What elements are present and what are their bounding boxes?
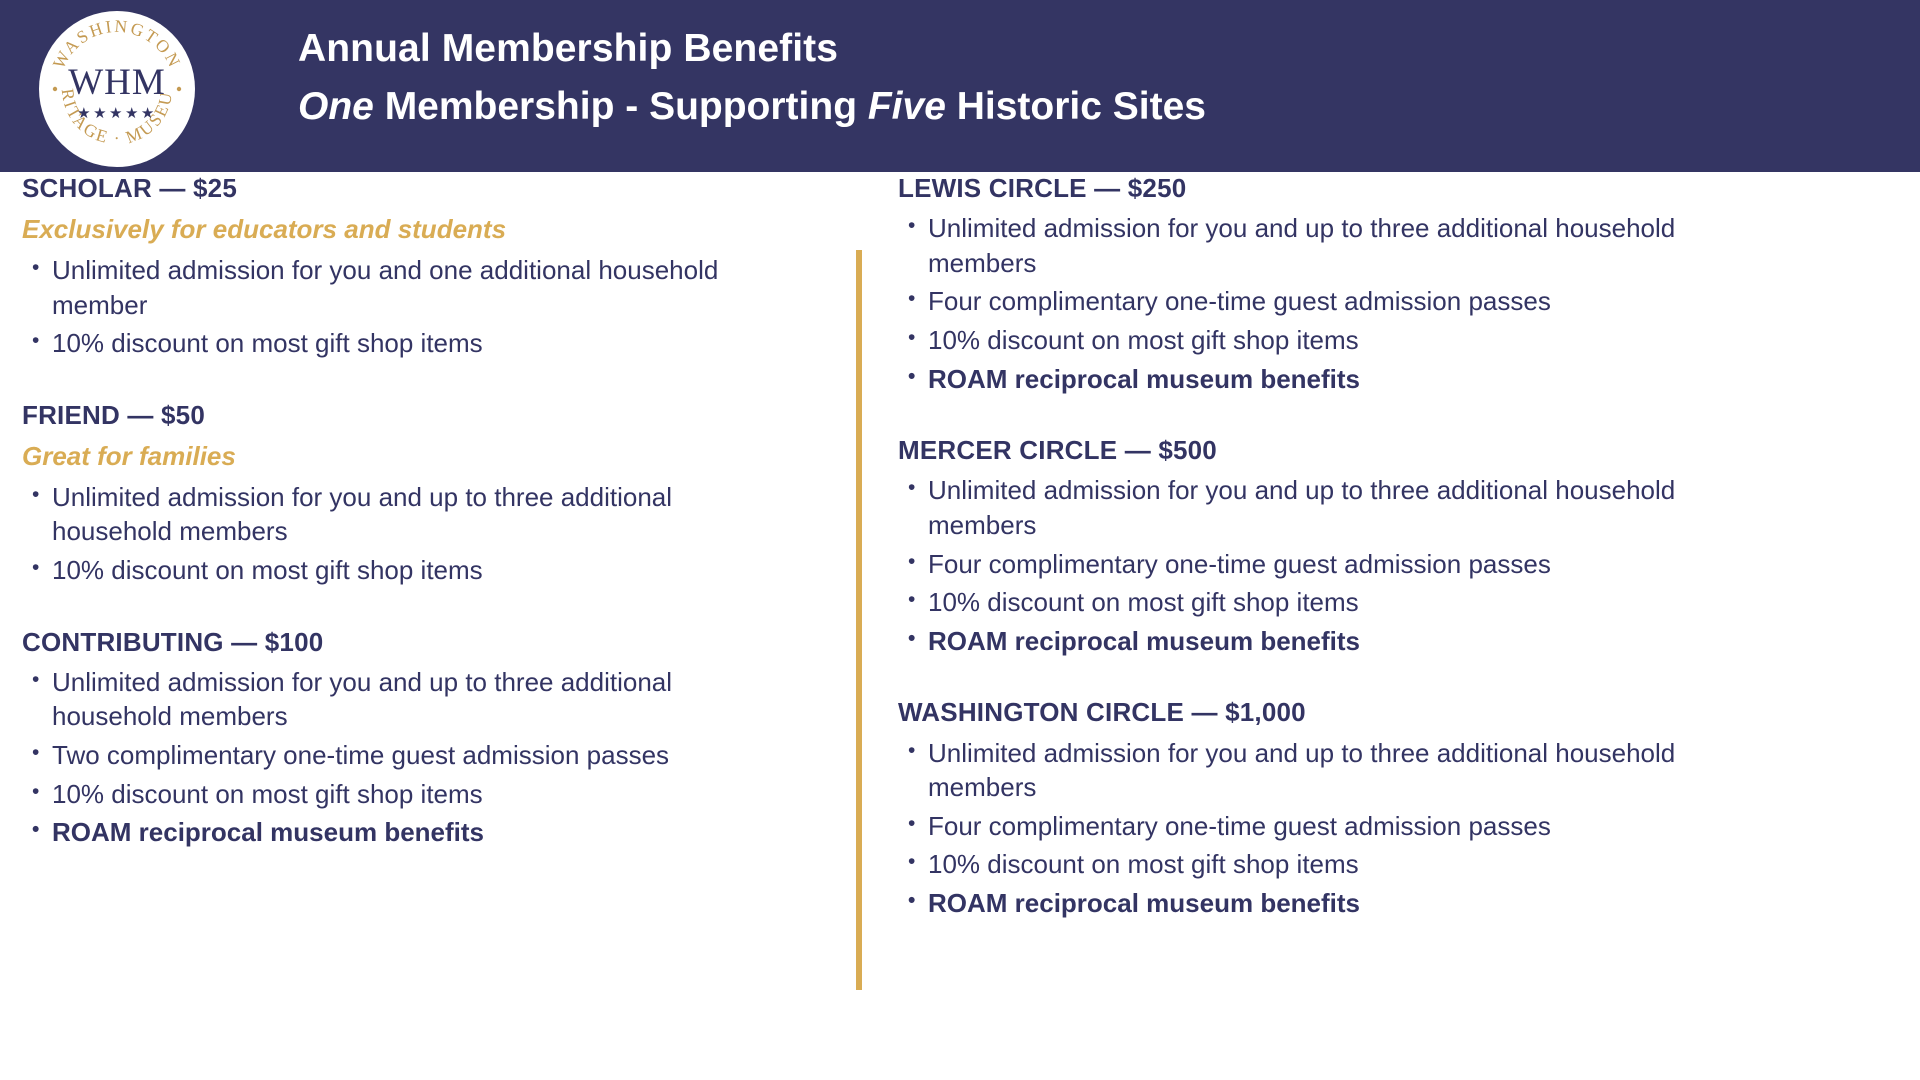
tier-lewis-circle: LEWIS CIRCLE — $250Unlimited admission f…	[898, 172, 1878, 396]
benefit-item: ROAM reciprocal museum benefits	[898, 624, 1743, 659]
tier-tagline-friend: Great for families	[22, 440, 832, 474]
tier-benefits-list-scholar: Unlimited admission for you and one addi…	[22, 253, 832, 361]
benefit-item: Four complimentary one-time guest admiss…	[898, 547, 1743, 582]
svg-text:WHM: WHM	[68, 62, 166, 103]
column-divider	[856, 250, 862, 990]
tier-spacer	[22, 588, 832, 626]
tier-washington-circle: WASHINGTON CIRCLE — $1,000Unlimited admi…	[898, 696, 1878, 920]
tier-title-mercer-circle: MERCER CIRCLE — $500	[898, 434, 1878, 467]
benefit-item: Unlimited admission for you and up to th…	[898, 736, 1743, 805]
subtitle-mid: Membership - Supporting	[374, 85, 868, 128]
tier-benefits-list-lewis-circle: Unlimited admission for you and up to th…	[898, 211, 1878, 396]
benefit-item: ROAM reciprocal museum benefits	[898, 362, 1743, 397]
tier-title-washington-circle: WASHINGTON CIRCLE — $1,000	[898, 696, 1878, 729]
tier-spacer	[898, 658, 1878, 696]
subtitle-word-five: Five	[868, 85, 946, 128]
benefit-item: Unlimited admission for you and up to th…	[22, 480, 722, 549]
benefits-body: SCHOLAR — $25Exclusively for educators a…	[0, 172, 1920, 1080]
benefit-item: Four complimentary one-time guest admiss…	[898, 809, 1743, 844]
benefit-item: Unlimited admission for you and one addi…	[22, 253, 722, 322]
benefit-item: Two complimentary one-time guest admissi…	[22, 738, 722, 773]
page-header: WASHINGTON HERITAGE · MUSEUMS WHM ★★★★★ …	[0, 0, 1920, 172]
benefit-item: 10% discount on most gift shop items	[22, 777, 722, 812]
benefit-item: 10% discount on most gift shop items	[898, 585, 1743, 620]
page-title: Annual Membership Benefits	[298, 22, 1858, 75]
tier-title-contributing: CONTRIBUTING — $100	[22, 626, 832, 659]
tier-mercer-circle: MERCER CIRCLE — $500Unlimited admission …	[898, 434, 1878, 658]
left-tier-column: SCHOLAR — $25Exclusively for educators a…	[22, 172, 832, 850]
benefit-item: Four complimentary one-time guest admiss…	[898, 284, 1743, 319]
benefit-item: 10% discount on most gift shop items	[22, 553, 722, 588]
tier-scholar: SCHOLAR — $25Exclusively for educators a…	[22, 172, 832, 361]
benefit-item: 10% discount on most gift shop items	[898, 847, 1743, 882]
tier-benefits-list-contributing: Unlimited admission for you and up to th…	[22, 665, 832, 850]
benefit-item: Unlimited admission for you and up to th…	[22, 665, 722, 734]
tier-contributing: CONTRIBUTING — $100Unlimited admission f…	[22, 626, 832, 850]
tier-title-friend: FRIEND — $50	[22, 399, 832, 432]
benefit-item: 10% discount on most gift shop items	[22, 326, 722, 361]
tier-tagline-scholar: Exclusively for educators and students	[22, 213, 832, 247]
benefit-item: ROAM reciprocal museum benefits	[22, 815, 722, 850]
benefit-item: ROAM reciprocal museum benefits	[898, 886, 1743, 921]
membership-benefits-page: WASHINGTON HERITAGE · MUSEUMS WHM ★★★★★ …	[0, 0, 1920, 1080]
right-tier-column: LEWIS CIRCLE — $250Unlimited admission f…	[898, 172, 1878, 920]
tier-benefits-list-washington-circle: Unlimited admission for you and up to th…	[898, 736, 1878, 921]
tier-title-lewis-circle: LEWIS CIRCLE — $250	[898, 172, 1878, 205]
benefit-item: 10% discount on most gift shop items	[898, 323, 1743, 358]
page-subtitle: One Membership - Supporting Five Histori…	[298, 80, 1858, 133]
benefit-item: Unlimited admission for you and up to th…	[898, 211, 1743, 280]
tier-title-scholar: SCHOLAR — $25	[22, 172, 832, 205]
tier-benefits-list-friend: Unlimited admission for you and up to th…	[22, 480, 832, 588]
subtitle-word-one: One	[298, 85, 374, 128]
benefit-item: Unlimited admission for you and up to th…	[898, 473, 1743, 542]
tier-spacer	[22, 361, 832, 399]
tier-benefits-list-mercer-circle: Unlimited admission for you and up to th…	[898, 473, 1878, 658]
header-text-block: Annual Membership Benefits One Membershi…	[298, 22, 1858, 133]
tier-spacer	[898, 396, 1878, 434]
subtitle-tail: Historic Sites	[946, 85, 1206, 128]
whm-seal-logo-icon: WASHINGTON HERITAGE · MUSEUMS WHM ★★★★★	[36, 8, 198, 170]
tier-friend: FRIEND — $50Great for familiesUnlimited …	[22, 399, 832, 588]
svg-text:★★★★★: ★★★★★	[77, 104, 157, 122]
